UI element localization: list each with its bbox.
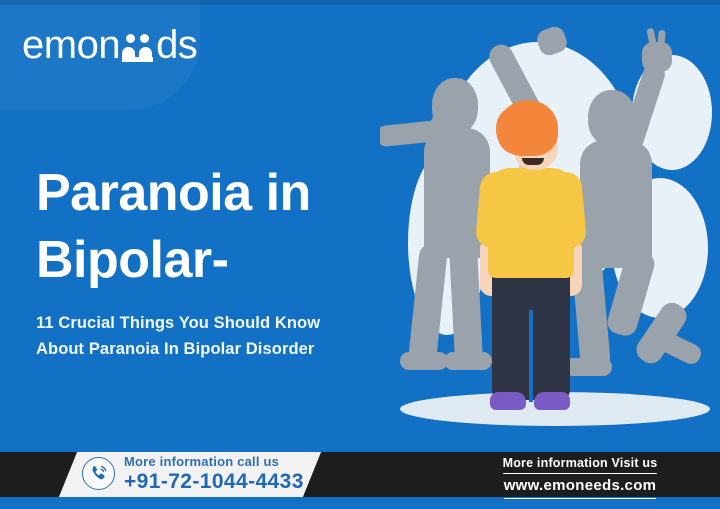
call-number[interactable]: +91-72-1044-4433 [124, 471, 304, 493]
center-figure-shoe-left [490, 392, 526, 410]
contact-website-block[interactable]: More information Visit us www.emoneeds.c… [480, 454, 680, 499]
contact-phone-block[interactable]: More information call us +91-72-1044-443… [82, 455, 304, 493]
logo-text-after: ds [156, 25, 197, 65]
hero-illustration [380, 0, 720, 442]
center-figure-shirt [488, 168, 574, 278]
page-title: Paranoia in Bipolar- [36, 168, 406, 286]
center-figure-pants-gap [529, 310, 533, 402]
headline-line-2: Bipolar- [36, 235, 406, 286]
center-figure-shoe-right [534, 392, 570, 410]
center-figure-mouth [522, 158, 544, 165]
shadow-figure-right-foot-left [564, 358, 612, 376]
shadow-figure-right-head [588, 90, 636, 146]
visit-url[interactable]: www.emoneeds.com [504, 477, 657, 499]
shadow-figure-right-torso [580, 140, 652, 268]
subtitle-line-1: 11 Crucial Things You Should Know [36, 311, 416, 337]
visit-label: More information Visit us [503, 456, 658, 474]
phone-ringing-icon [82, 457, 115, 490]
subtitle-line-2: About Paranoia In Bipolar Disorder [36, 337, 416, 363]
logo-text-before: emon [22, 25, 120, 65]
two-people-icon [121, 34, 155, 64]
shadow-figure-right-foot-right [654, 329, 704, 367]
shadow-figure-left-foot-right [444, 352, 492, 370]
page-subtitle: 11 Crucial Things You Should Know About … [36, 311, 416, 362]
headline-line-1: Paranoia in [36, 164, 311, 222]
poster-canvas: emon ds Paranoia in Bipolar- 11 Crucial … [0, 0, 720, 509]
center-figure-hair-front [496, 108, 530, 154]
call-label: More information call us [124, 455, 304, 469]
brand-logo[interactable]: emon ds [22, 22, 197, 68]
